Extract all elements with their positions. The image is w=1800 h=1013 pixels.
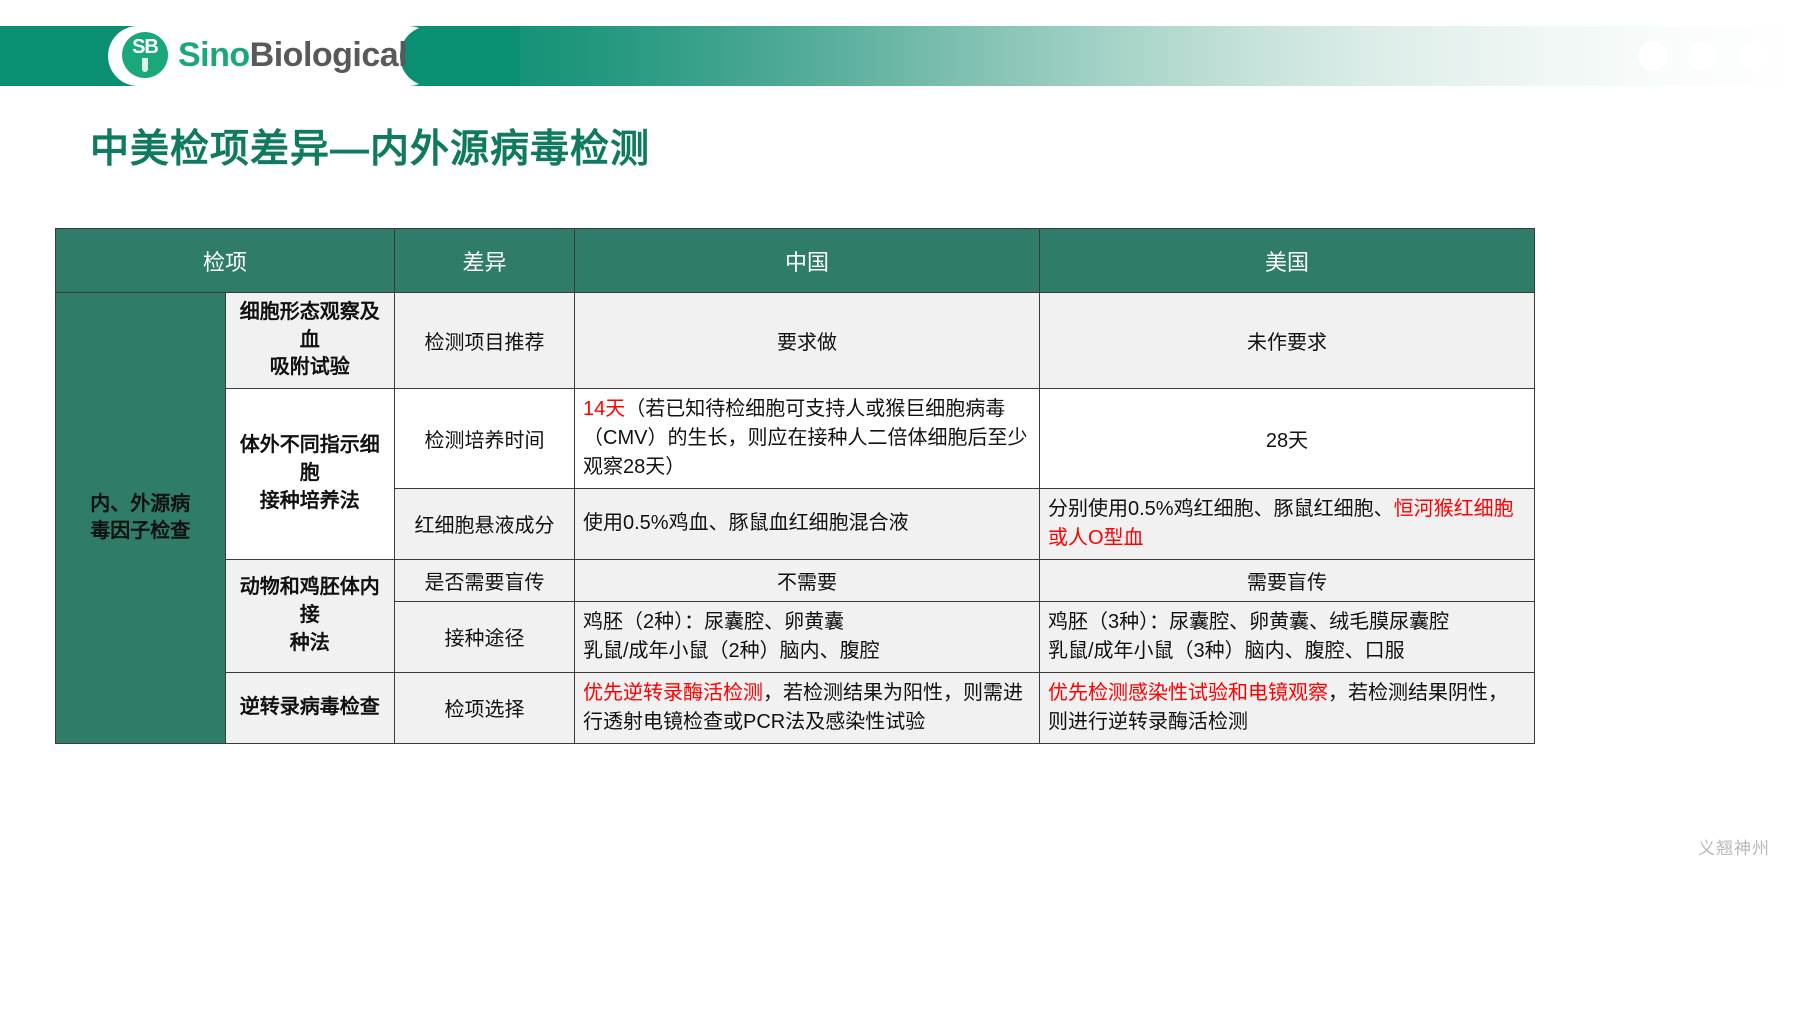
- category-cell: 逆转录病毒检查: [225, 672, 395, 743]
- difference-cell: 检测培养时间: [395, 388, 575, 488]
- usa-body-text: 分别使用0.5%鸡红细胞、豚鼠红细胞、: [1048, 498, 1394, 520]
- sb-monogram-label: SB: [122, 36, 168, 59]
- table-row: 内、外源病 毒因子检查 细胞形态观察及血 吸附试验 检测项目推荐 要求做 未作要…: [56, 293, 1535, 389]
- china-cell: 14天（若已知待检细胞可支持人或猴巨细胞病毒（CMV）的生长，则应在接种人二倍体…: [575, 388, 1040, 488]
- china-body-text: （若已知待检细胞可支持人或猴巨细胞病毒（CMV）的生长，则应在接种人二倍体细胞后…: [583, 398, 1027, 478]
- page-title: 中美检项差异—内外源病毒检测: [90, 118, 650, 174]
- category-cell: 体外不同指示细胞 接种培养法: [225, 388, 395, 559]
- table-row: 体外不同指示细胞 接种培养法 检测培养时间 14天（若已知待检细胞可支持人或猴巨…: [56, 388, 1535, 488]
- watermark-label: 义翘神州: [1698, 834, 1770, 859]
- category-line1: 逆转录病毒检查: [234, 694, 387, 722]
- decorative-circle-icon: [1638, 41, 1668, 71]
- usa-text-line1: 鸡胚（3种）：尿囊腔、卵黄囊、绒毛膜尿囊腔: [1048, 608, 1526, 637]
- row-group-label-line1: 内、外源病: [64, 491, 217, 518]
- logo-word-biological: Biological: [250, 36, 407, 74]
- usa-cell: 分别使用0.5%鸡红细胞、豚鼠红细胞、恒河猴红细胞或人O型血: [1040, 488, 1535, 559]
- usa-cell: 需要盲传: [1040, 559, 1535, 601]
- column-header-item: 检项: [56, 229, 395, 293]
- difference-cell: 检项选择: [395, 672, 575, 743]
- category-cell: 细胞形态观察及血 吸附试验: [225, 293, 395, 389]
- column-header-china: 中国: [575, 229, 1040, 293]
- difference-cell: 接种途径: [395, 601, 575, 672]
- usa-cell: 未作要求: [1040, 293, 1535, 389]
- sino-biological-logo: SB SinoBiological: [122, 30, 407, 80]
- usa-cell: 鸡胚（3种）：尿囊腔、卵黄囊、绒毛膜尿囊腔 乳鼠/成年小鼠（3种）脑内、腹腔、口…: [1040, 601, 1535, 672]
- category-line2: 吸附试验: [234, 354, 387, 382]
- china-highlight-text: 优先逆转录酶活检测: [583, 682, 763, 704]
- decorative-circle-icon: [1738, 41, 1768, 71]
- table-row: 动物和鸡胚体内接 种法 是否需要盲传 不需要 需要盲传: [56, 559, 1535, 601]
- difference-cell: 检测项目推荐: [395, 293, 575, 389]
- row-group-label-line2: 毒因子检查: [64, 518, 217, 545]
- comparison-table: 检项 差异 中国 美国 内、外源病 毒因子检查 细胞形态观察及血 吸附试验 检测…: [55, 228, 1535, 744]
- slide-canvas: SB SinoBiological 中美检项差异—内外源病毒检测 检项 差异 中…: [0, 0, 1800, 1013]
- decorative-circle-icon: [1688, 41, 1718, 71]
- china-cell: 鸡胚（2种）：尿囊腔、卵黄囊 乳鼠/成年小鼠（2种）脑内、腹腔: [575, 601, 1040, 672]
- logo-wordmark: SinoBiological: [178, 36, 407, 75]
- logo-word-sino: Sino: [178, 36, 250, 74]
- category-line1: 体外不同指示细胞: [234, 432, 387, 487]
- category-line2: 接种培养法: [234, 488, 387, 516]
- category-cell: 动物和鸡胚体内接 种法: [225, 559, 395, 672]
- usa-text-line2: 乳鼠/成年小鼠（3种）脑内、腹腔、口服: [1048, 637, 1526, 666]
- china-cell: 不需要: [575, 559, 1040, 601]
- sb-logo-icon: SB: [122, 32, 168, 78]
- difference-cell: 是否需要盲传: [395, 559, 575, 601]
- china-text-line1: 鸡胚（2种）：尿囊腔、卵黄囊: [583, 608, 1031, 637]
- usa-highlight-text: 优先检测感染性试验和电镜观察: [1048, 682, 1328, 704]
- category-line1: 动物和鸡胚体内接: [234, 574, 387, 629]
- table-row: 逆转录病毒检查 检项选择 优先逆转录酶活检测，若检测结果为阳性，则需进行透射电镜…: [56, 672, 1535, 743]
- china-cell: 使用0.5%鸡血、豚鼠血红细胞混合液: [575, 488, 1040, 559]
- china-cell: 要求做: [575, 293, 1040, 389]
- china-cell: 优先逆转录酶活检测，若检测结果为阳性，则需进行透射电镜检查或PCR法及感染性试验: [575, 672, 1040, 743]
- difference-cell: 红细胞悬液成分: [395, 488, 575, 559]
- usa-cell: 优先检测感染性试验和电镜观察，若检测结果阴性，则进行逆转录酶活检测: [1040, 672, 1535, 743]
- flask-icon: [142, 58, 148, 72]
- china-text-line2: 乳鼠/成年小鼠（2种）脑内、腹腔: [583, 637, 1031, 666]
- column-header-usa: 美国: [1040, 229, 1535, 293]
- category-line2: 种法: [234, 630, 387, 658]
- row-group-label: 内、外源病 毒因子检查: [56, 293, 226, 744]
- table-header-row: 检项 差异 中国 美国: [56, 229, 1535, 293]
- usa-cell: 28天: [1040, 388, 1535, 488]
- column-header-difference: 差异: [395, 229, 575, 293]
- china-highlight-text: 14天: [583, 398, 625, 420]
- category-line1: 细胞形态观察及血: [234, 299, 387, 354]
- header-accent-block: [400, 26, 520, 86]
